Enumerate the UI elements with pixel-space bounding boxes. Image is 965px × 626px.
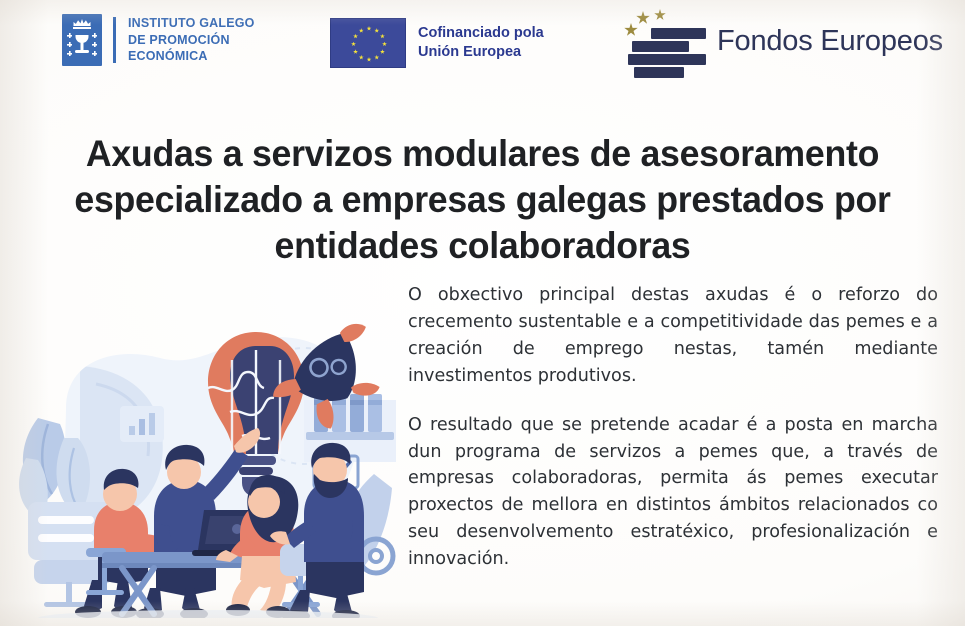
star-icon [624,23,638,37]
xunta-de-galicia-crest-icon [62,14,102,66]
crown-icon [74,19,91,26]
chalice-foot [75,50,89,53]
body-text-column: O obxectivo principal destas axudas é o … [408,282,938,573]
stripe-bar [634,67,684,78]
cross-icon [67,42,72,47]
star-icon [636,11,650,25]
european-union-logo-text: Cofinanciado pola Unión Europea [418,24,544,63]
stripe-bar [651,28,706,39]
crown-band [73,27,91,29]
team-collaboration-illustration [8,288,400,618]
star-icon [351,42,356,47]
stripe-bar [638,41,689,52]
logo-divider [113,17,116,63]
fondos-europeos-mark-icon [620,8,706,74]
page-title: Axudas a servizos modulares de asesorame… [17,131,948,269]
fondos-europeos-logo-text: Fondos Europeos [717,25,943,58]
cross-icon [92,51,97,56]
star-icon [654,9,666,21]
star-icon [367,26,372,31]
logo-bar: INSTITUTO GALEGO DE PROMOCIÓN ECONÓMICA … [0,0,965,92]
star-icon [380,49,385,54]
star-icon [382,42,387,47]
star-icon [353,34,358,39]
chart-card-decor [120,406,164,442]
paragraph-result: O resultado que se pretende acadar é a p… [408,412,938,573]
poster-page: INSTITUTO GALEGO DE PROMOCIÓN ECONÓMICA … [0,0,965,626]
cross-icon [92,33,97,38]
star-icon [359,55,364,60]
star-icon [374,28,379,33]
fondos-europeos-logo: Fondos Europeos [620,8,943,74]
star-icon [359,28,364,33]
igape-logo-text: INSTITUTO GALEGO DE PROMOCIÓN ECONÓMICA [128,15,255,65]
paragraph-objective: O obxectivo principal destas axudas é o … [408,282,938,390]
star-icon [353,49,358,54]
star-icon [380,34,385,39]
european-union-flag-icon [330,18,406,68]
star-icon [367,57,372,62]
cross-icon [92,42,97,47]
igape-logo: INSTITUTO GALEGO DE PROMOCIÓN ECONÓMICA [62,14,255,66]
cross-icon [67,33,72,38]
stripe-bar [651,54,706,65]
cross-icon [67,51,72,56]
european-union-logo: Cofinanciado pola Unión Europea [330,18,544,68]
star-icon [374,55,379,60]
